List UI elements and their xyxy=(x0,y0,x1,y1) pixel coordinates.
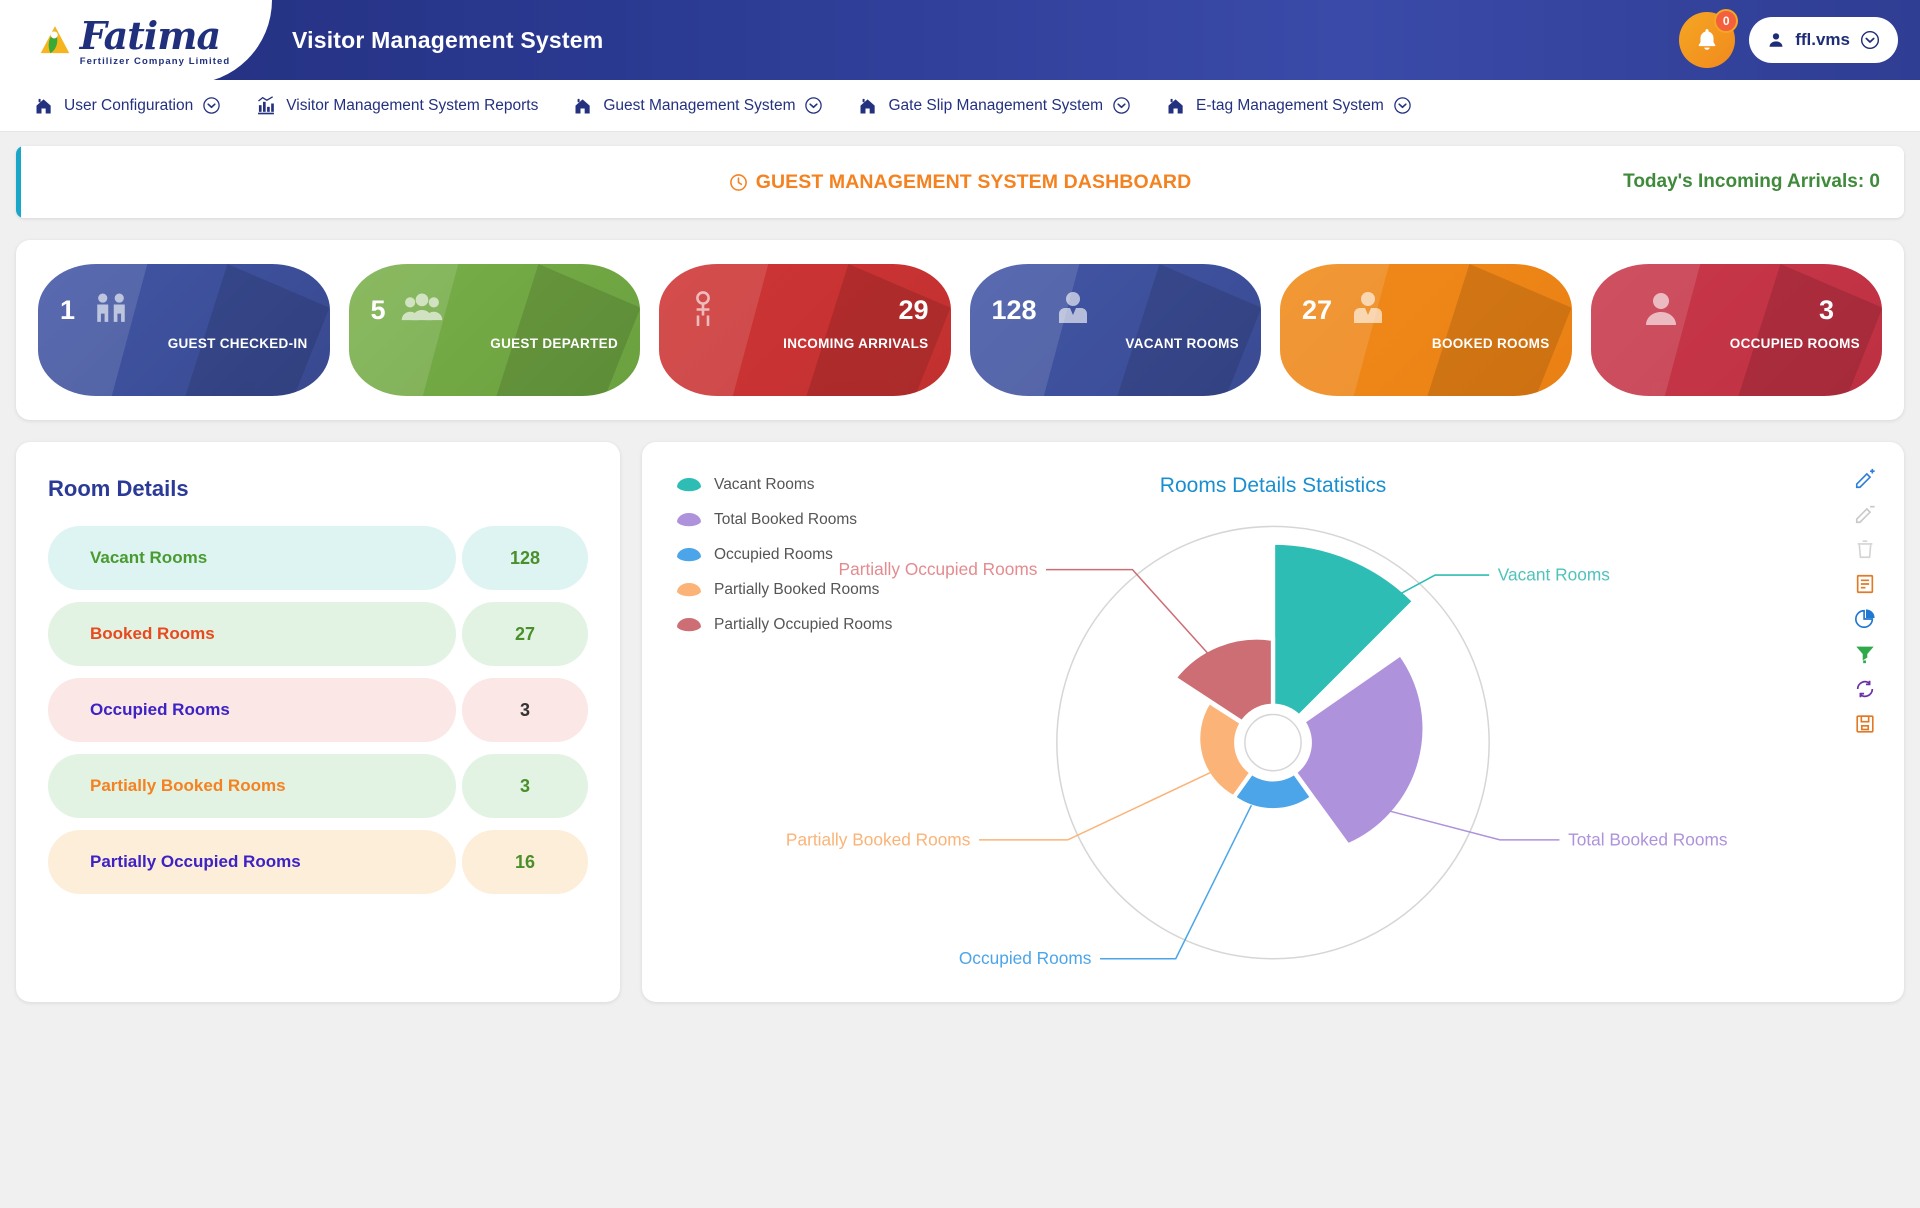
todays-incoming-arrivals: Today's Incoming Arrivals: 0 xyxy=(1623,171,1880,193)
chevron-down-circle-icon[interactable] xyxy=(1112,96,1131,115)
menu-label: User Configuration xyxy=(64,97,193,115)
rooms-statistics-panel: Vacant Rooms Total Booked Rooms Occupied… xyxy=(642,442,1904,1002)
menu-label: E-tag Management System xyxy=(1196,97,1384,115)
chart-label-partially-booked-rooms: Partially Booked Rooms xyxy=(786,829,971,849)
menu-item-vms-reports[interactable]: Visitor Management System Reports xyxy=(238,80,555,132)
dashboard-page: GUEST MANAGEMENT SYSTEM DASHBOARD Today'… xyxy=(0,132,1920,1002)
menu-item-gate-slip-management-system[interactable]: Gate Slip Management System xyxy=(840,80,1148,132)
room-details-row[interactable]: Occupied Rooms 3 xyxy=(48,678,588,742)
user-menu-button[interactable]: ffl.vms xyxy=(1749,17,1898,63)
brand-logo[interactable]: Fatima Fertilizer Company Limited xyxy=(0,0,272,84)
app-title: Visitor Management System xyxy=(292,27,603,54)
home-icon xyxy=(572,96,594,116)
kpi-label: GUEST CHECKED-IN xyxy=(168,336,308,353)
menu-item-guest-management-system[interactable]: Guest Management System xyxy=(555,80,840,132)
person-solid-icon xyxy=(1639,290,1683,330)
kpi-card-occupied-rooms[interactable]: 3 OCCUPIED ROOMS xyxy=(1591,264,1883,396)
user-icon xyxy=(1767,31,1785,49)
legend-swatch-icon xyxy=(676,478,702,492)
facet-decoration xyxy=(38,264,329,396)
legend-item-vacant-rooms[interactable]: Vacant Rooms xyxy=(676,476,892,494)
page-title-text: GUEST MANAGEMENT SYSTEM DASHBOARD xyxy=(756,171,1192,194)
room-row-value: 3 xyxy=(462,678,588,742)
room-row-value: 27 xyxy=(462,602,588,666)
menu-label: Gate Slip Management System xyxy=(888,97,1103,115)
pencil-add-icon[interactable] xyxy=(1854,468,1876,490)
menu-label: Visitor Management System Reports xyxy=(286,97,538,115)
user-name-label: ffl.vms xyxy=(1795,30,1850,50)
kpi-value: 128 xyxy=(992,295,1037,326)
dashboard-title-bar: GUEST MANAGEMENT SYSTEM DASHBOARD Today'… xyxy=(16,146,1904,218)
room-details-row[interactable]: Booked Rooms 27 xyxy=(48,602,588,666)
room-row-label: Partially Occupied Rooms xyxy=(48,830,456,894)
chart-label-total-booked-rooms: Total Booked Rooms xyxy=(1568,829,1728,849)
fatima-leaf-logo-icon xyxy=(36,23,74,61)
chevron-down-circle-icon[interactable] xyxy=(804,96,823,115)
person-suit-icon xyxy=(1051,290,1095,330)
room-details-panel: Room Details Vacant Rooms 128 Booked Roo… xyxy=(16,442,620,1002)
kpi-value: 27 xyxy=(1302,295,1332,326)
brand-tagline: Fertilizer Company Limited xyxy=(80,57,231,67)
rose-chart-svg[interactable]: Vacant Rooms Total Booked Rooms Occupied… xyxy=(642,494,1904,1002)
menu-item-etag-management-system[interactable]: E-tag Management System xyxy=(1148,80,1429,132)
kpi-value: 3 xyxy=(1819,295,1834,326)
chart-donut-hole xyxy=(1234,704,1312,782)
chart-label-partially-occupied-rooms: Partially Occupied Rooms xyxy=(839,559,1038,579)
facet-decoration xyxy=(970,264,1261,396)
chart-label-vacant-rooms: Vacant Rooms xyxy=(1498,564,1610,584)
room-details-row[interactable]: Vacant Rooms 128 xyxy=(48,526,588,590)
kpi-card-vacant-rooms[interactable]: 128 VACANT ROOMS xyxy=(970,264,1262,396)
room-details-row[interactable]: Partially Occupied Rooms 16 xyxy=(48,830,588,894)
room-row-value: 3 xyxy=(462,754,588,818)
bell-icon xyxy=(1694,27,1720,53)
kpi-card-guest-departed[interactable]: 5 GUEST DEPARTED xyxy=(349,264,641,396)
kpi-card-booked-rooms[interactable]: 27 BOOKED ROOMS xyxy=(1280,264,1572,396)
chevron-down-circle-icon[interactable] xyxy=(1393,96,1412,115)
room-details-title: Room Details xyxy=(48,476,588,502)
rose-chart[interactable]: Vacant Rooms Total Booked Rooms Occupied… xyxy=(642,494,1904,1002)
kpi-card-guest-checked-in[interactable]: 1 GUEST CHECKED-IN xyxy=(38,264,330,396)
leader-line-total-booked-rooms xyxy=(1376,807,1560,839)
app-header: Fatima Fertilizer Company Limited Visito… xyxy=(0,0,1920,80)
kpi-card-incoming-arrivals[interactable]: 29 INCOMING ARRIVALS xyxy=(659,264,951,396)
room-row-label: Partially Booked Rooms xyxy=(48,754,456,818)
page-title: GUEST MANAGEMENT SYSTEM DASHBOARD xyxy=(16,171,1904,194)
kpi-card-row: 1 GUEST CHECKED-IN 5 GUEST DEPARTED xyxy=(16,240,1904,420)
chart-label-occupied-rooms: Occupied Rooms xyxy=(959,948,1092,968)
facet-decoration xyxy=(659,264,950,396)
menu-item-user-configuration[interactable]: User Configuration xyxy=(16,80,238,132)
clock-icon xyxy=(729,173,748,192)
room-row-value: 128 xyxy=(462,526,588,590)
facet-decoration xyxy=(349,264,640,396)
chevron-down-circle-icon[interactable] xyxy=(202,96,221,115)
room-row-value: 16 xyxy=(462,830,588,894)
facet-decoration xyxy=(1280,264,1571,396)
home-icon xyxy=(33,96,55,116)
notifications-button[interactable]: 0 xyxy=(1679,12,1735,68)
menu-label: Guest Management System xyxy=(603,97,795,115)
kpi-value: 5 xyxy=(371,295,386,326)
legend-label: Vacant Rooms xyxy=(714,476,815,494)
leader-line-partially-booked-rooms xyxy=(979,770,1217,840)
facet-decoration xyxy=(1591,264,1882,396)
notification-count-badge: 0 xyxy=(1714,9,1738,33)
kpi-value: 29 xyxy=(898,295,928,326)
kpi-label: VACANT ROOMS xyxy=(1125,336,1239,353)
person-suit-icon xyxy=(1346,290,1390,330)
room-row-label: Booked Rooms xyxy=(48,602,456,666)
room-details-row[interactable]: Partially Booked Rooms 3 xyxy=(48,754,588,818)
chart-bar-icon xyxy=(255,96,277,116)
kpi-label: GUEST DEPARTED xyxy=(490,336,618,353)
two-persons-icon xyxy=(89,290,133,330)
kpi-label: OCCUPIED ROOMS xyxy=(1730,336,1860,353)
kpi-label: INCOMING ARRIVALS xyxy=(783,336,928,353)
kpi-value: 1 xyxy=(60,295,75,326)
home-icon xyxy=(1165,96,1187,116)
home-icon xyxy=(857,96,879,116)
brand-name: Fatima xyxy=(80,17,231,55)
room-row-label: Vacant Rooms xyxy=(48,526,456,590)
main-navigation: User Configuration Visitor Management Sy… xyxy=(0,80,1920,132)
room-row-label: Occupied Rooms xyxy=(48,678,456,742)
kpi-label: BOOKED ROOMS xyxy=(1432,336,1550,353)
people-group-icon xyxy=(400,290,444,330)
single-person-icon xyxy=(681,290,725,330)
chevron-down-circle-icon[interactable] xyxy=(1860,30,1880,50)
